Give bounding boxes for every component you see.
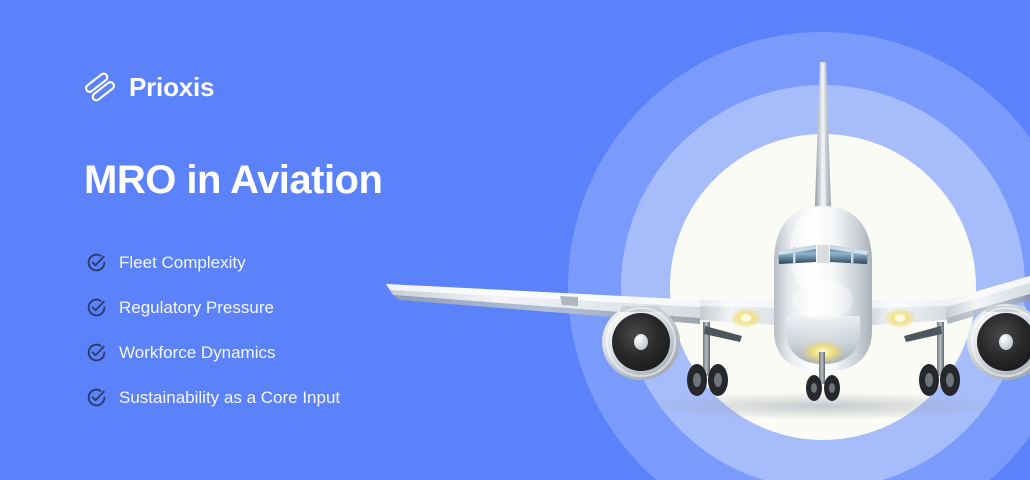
brand-logo[interactable]: Prioxis [84, 71, 214, 103]
feature-list: Fleet Complexity Regulatory Pressure Wor… [86, 240, 340, 420]
check-circle-icon [86, 387, 107, 408]
page-title: MRO in Aviation [84, 158, 382, 203]
check-circle-icon [86, 297, 107, 318]
brand-name: Prioxis [129, 74, 214, 100]
list-item: Fleet Complexity [86, 240, 340, 285]
mro-aviation-banner: Prioxis MRO in Aviation Fleet Complexity… [0, 0, 1030, 480]
check-circle-icon [86, 252, 107, 273]
list-item: Workforce Dynamics [86, 330, 340, 375]
list-item: Sustainability as a Core Input [86, 375, 340, 420]
check-circle-icon [86, 342, 107, 363]
content-column: Prioxis MRO in Aviation Fleet Complexity… [84, 0, 514, 480]
list-item-label: Regulatory Pressure [119, 299, 274, 316]
list-item-label: Fleet Complexity [119, 254, 246, 271]
list-item-label: Workforce Dynamics [119, 344, 276, 361]
ring-inner [670, 134, 976, 440]
prioxis-logo-icon [84, 71, 116, 103]
list-item-label: Sustainability as a Core Input [119, 389, 340, 406]
list-item: Regulatory Pressure [86, 285, 340, 330]
